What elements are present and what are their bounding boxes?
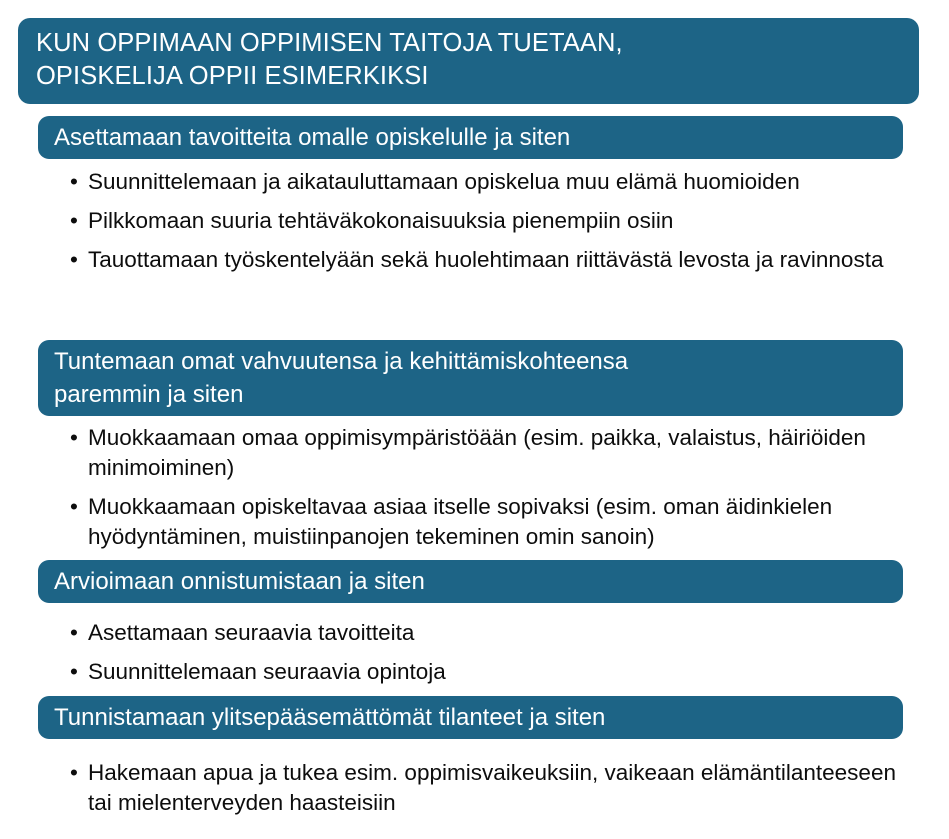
list-item: • Muokkaamaan omaa oppimisympäristöään (… bbox=[66, 423, 896, 483]
bullet-icon: • bbox=[70, 423, 78, 453]
main-title-line-2: OPISKELIJA OPPII ESIMERKIKSI bbox=[36, 60, 901, 93]
list-item-text: Muokkaamaan opiskeltavaa asiaa itselle s… bbox=[88, 492, 896, 552]
main-title-banner: KUN OPPIMAAN OPPIMISEN TAITOJA TUETAAN, … bbox=[18, 18, 919, 104]
main-title-line-1: KUN OPPIMAAN OPPIMISEN TAITOJA TUETAAN, bbox=[36, 27, 901, 60]
list-item: • Suunnittelemaan seuraavia opintoja bbox=[66, 657, 896, 687]
section-3-bullet-list: • Asettamaan seuraavia tavoitteita • Suu… bbox=[66, 618, 896, 687]
section-2-header: Tuntemaan omat vahvuutensa ja kehittämis… bbox=[38, 340, 903, 416]
list-item-text: Muokkaamaan omaa oppimisympäristöään (es… bbox=[88, 423, 896, 483]
list-item: • Tauottamaan työskentelyään sekä huoleh… bbox=[66, 245, 896, 275]
slide-canvas: KUN OPPIMAAN OPPIMISEN TAITOJA TUETAAN, … bbox=[0, 0, 949, 839]
list-item-text: Tauottamaan työskentelyään sekä huolehti… bbox=[88, 245, 896, 275]
list-item-text: Asettamaan seuraavia tavoitteita bbox=[88, 618, 896, 648]
section-2-bullet-list: • Muokkaamaan omaa oppimisympäristöään (… bbox=[66, 423, 896, 552]
bullet-icon: • bbox=[70, 758, 78, 788]
list-item: • Hakemaan apua ja tukea esim. oppimisva… bbox=[66, 758, 896, 818]
list-item-text: Suunnittelemaan seuraavia opintoja bbox=[88, 657, 896, 687]
section-1-bullet-list: • Suunnittelemaan ja aikatauluttamaan op… bbox=[66, 167, 896, 275]
section-2-header-line-2: paremmin ja siten bbox=[54, 378, 887, 411]
section-2-header-line-1: Tuntemaan omat vahvuutensa ja kehittämis… bbox=[54, 345, 887, 378]
list-item-text: Suunnittelemaan ja aikatauluttamaan opis… bbox=[88, 167, 896, 197]
section-3-header-line-1: Arvioimaan onnistumistaan ja siten bbox=[54, 565, 887, 598]
bullet-icon: • bbox=[70, 206, 78, 236]
section-1-header: Asettamaan tavoitteita omalle opiskelull… bbox=[38, 116, 903, 159]
list-item: • Suunnittelemaan ja aikatauluttamaan op… bbox=[66, 167, 896, 197]
bullet-icon: • bbox=[70, 245, 78, 275]
list-item-text: Pilkkomaan suuria tehtäväkokonaisuuksia … bbox=[88, 206, 896, 236]
section-3-header: Arvioimaan onnistumistaan ja siten bbox=[38, 560, 903, 603]
section-4-bullet-list: • Hakemaan apua ja tukea esim. oppimisva… bbox=[66, 758, 896, 818]
list-item-text: Hakemaan apua ja tukea esim. oppimisvaik… bbox=[88, 758, 896, 818]
section-4-header: Tunnistamaan ylitsepääsemättömät tilante… bbox=[38, 696, 903, 739]
section-1-header-line-1: Asettamaan tavoitteita omalle opiskelull… bbox=[54, 121, 887, 154]
bullet-icon: • bbox=[70, 618, 78, 648]
bullet-icon: • bbox=[70, 657, 78, 687]
list-item: • Asettamaan seuraavia tavoitteita bbox=[66, 618, 896, 648]
bullet-icon: • bbox=[70, 492, 78, 522]
bullet-icon: • bbox=[70, 167, 78, 197]
list-item: • Muokkaamaan opiskeltavaa asiaa itselle… bbox=[66, 492, 896, 552]
section-4-header-line-1: Tunnistamaan ylitsepääsemättömät tilante… bbox=[54, 701, 887, 734]
list-item: • Pilkkomaan suuria tehtäväkokonaisuuksi… bbox=[66, 206, 896, 236]
